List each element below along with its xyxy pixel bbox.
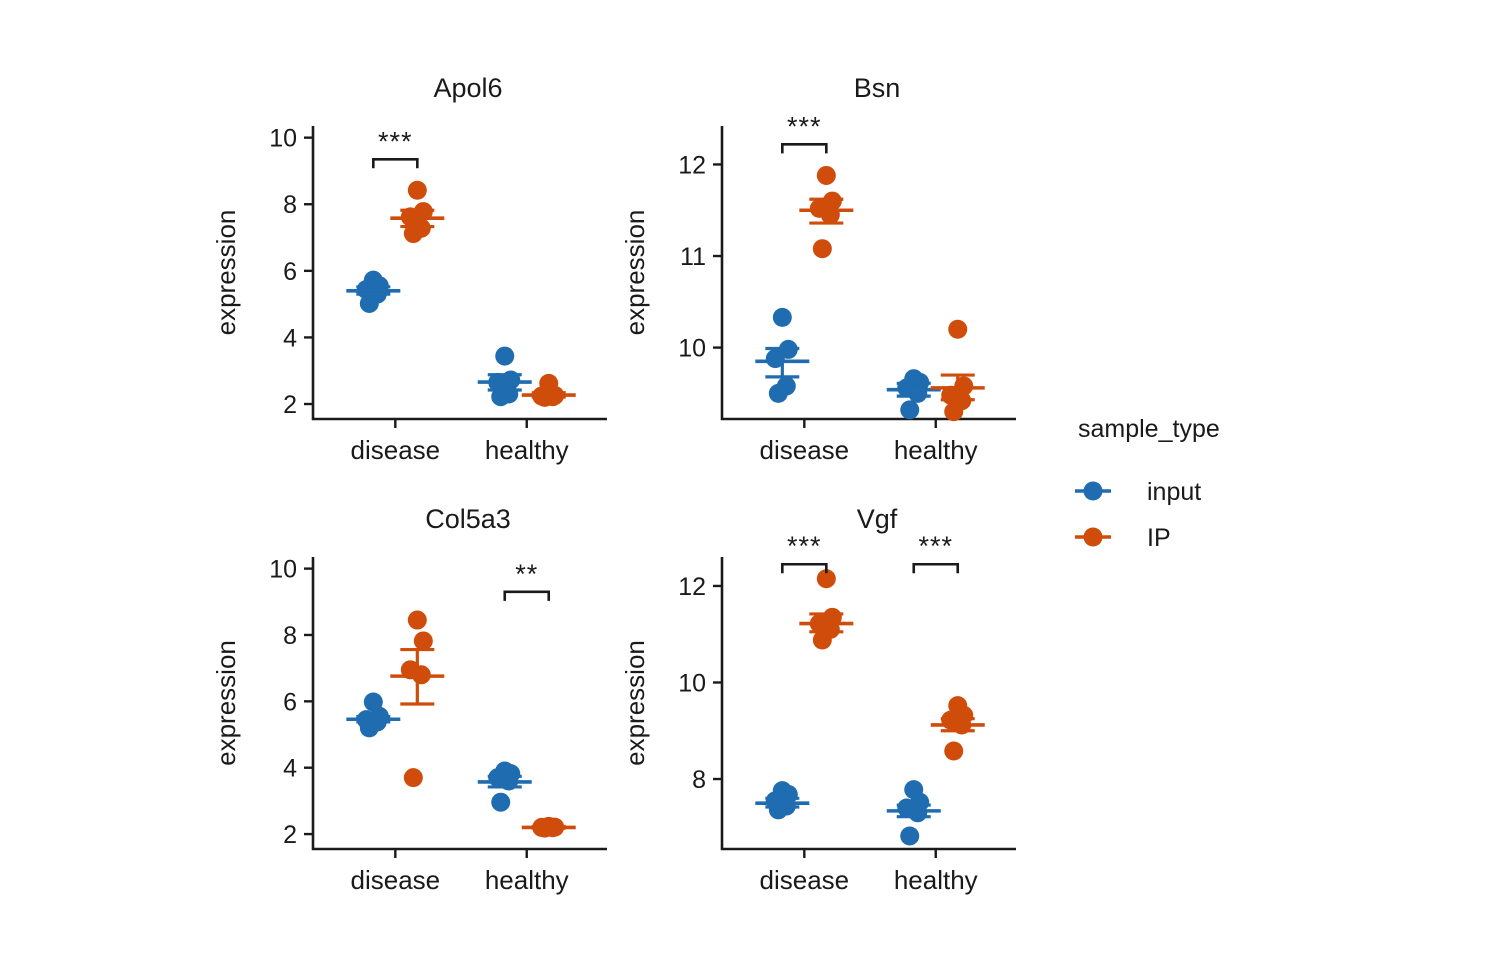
group-healthy-input <box>887 369 941 419</box>
y-axis-label-vgf: expression <box>620 640 650 766</box>
legend-title: sample_type <box>1078 415 1220 443</box>
data-point <box>491 793 510 812</box>
group-disease-IP <box>799 166 853 258</box>
y-tick-label: 12 <box>678 151 706 179</box>
panel-title-vgf: Vgf <box>857 504 898 534</box>
data-point <box>408 181 427 200</box>
significance-label: *** <box>787 531 822 561</box>
x-tick-label-disease: disease <box>760 435 850 465</box>
y-tick-label: 2 <box>283 821 297 849</box>
data-point <box>773 308 792 327</box>
panel-title-col5a3: Col5a3 <box>425 504 511 534</box>
legend-label-input: input <box>1147 478 1201 506</box>
y-tick-label: 8 <box>283 622 297 650</box>
group-healthy-IP <box>931 320 985 421</box>
data-point <box>414 631 433 650</box>
x-tick-label-disease: disease <box>351 435 441 465</box>
data-point <box>944 742 963 761</box>
data-point <box>817 166 836 185</box>
y-tick-label: 10 <box>269 556 297 584</box>
significance-label: *** <box>787 111 822 141</box>
y-axis-label-bsn: expression <box>620 210 650 336</box>
data-point <box>769 384 788 403</box>
y-tick-label: 6 <box>283 688 297 716</box>
significance-bracket <box>782 144 826 153</box>
data-point <box>908 384 927 403</box>
group-healthy-input <box>478 762 532 812</box>
y-tick-label: 8 <box>283 191 297 219</box>
legend-layer: sample_typeinputIP <box>1075 415 1220 552</box>
y-tick-label: 2 <box>283 391 297 419</box>
y-axis-label-col5a3: expression <box>211 640 241 766</box>
data-point <box>900 400 919 419</box>
axes-spine-apol6 <box>313 126 607 419</box>
legend-marker-IP <box>1084 528 1103 547</box>
group-disease-input <box>346 693 400 738</box>
group-disease-input <box>755 781 809 819</box>
panel-title-bsn: Bsn <box>854 73 901 103</box>
x-tick-label-healthy: healthy <box>894 865 978 895</box>
group-disease-input <box>755 308 809 403</box>
y-tick-label: 11 <box>680 243 706 271</box>
data-point <box>948 320 967 339</box>
legend-label-IP: IP <box>1147 524 1171 552</box>
group-disease-IP <box>390 181 444 243</box>
group-healthy-input <box>478 347 532 407</box>
panel-title-apol6: Apol6 <box>433 73 502 103</box>
y-tick-label: 12 <box>678 573 706 601</box>
y-tick-label: 6 <box>283 258 297 286</box>
group-healthy-IP <box>931 696 985 760</box>
axes-spine-vgf <box>722 557 1016 849</box>
panel-vgf: Vgfexpression81012diseasehealthy****** <box>620 504 1016 895</box>
y-tick-label: 4 <box>283 324 297 352</box>
group-healthy-IP <box>522 817 576 838</box>
data-point <box>360 294 379 313</box>
figure-root: Apol6expression246810diseasehealthy***Bs… <box>0 0 1500 960</box>
group-healthy-IP <box>522 374 576 407</box>
y-tick-label: 10 <box>678 669 706 697</box>
y-axis-label-apol6: expression <box>211 210 241 336</box>
group-healthy-input <box>887 780 941 845</box>
group-disease-input <box>346 271 400 313</box>
data-point <box>900 826 919 845</box>
significance-label: *** <box>378 126 413 156</box>
y-tick-label: 8 <box>692 766 706 794</box>
panel-apol6: Apol6expression246810diseasehealthy*** <box>211 73 607 465</box>
legend-marker-input <box>1084 482 1103 501</box>
x-tick-label-disease: disease <box>760 865 850 895</box>
data-point <box>408 611 427 630</box>
x-tick-label-healthy: healthy <box>485 865 569 895</box>
y-tick-label: 4 <box>283 755 297 783</box>
panel-col5a3: Col5a3expression246810diseasehealthy** <box>211 504 607 895</box>
x-tick-label-healthy: healthy <box>894 435 978 465</box>
data-point <box>495 347 514 366</box>
data-point <box>404 768 423 787</box>
axes-spine-col5a3 <box>313 557 607 849</box>
significance-label: *** <box>918 531 953 561</box>
data-point <box>944 402 963 421</box>
panels-layer: Apol6expression246810diseasehealthy***Bs… <box>211 73 1016 895</box>
data-point <box>813 239 832 258</box>
y-tick-label: 10 <box>269 125 297 153</box>
significance-bracket <box>505 592 549 601</box>
group-disease-IP <box>390 611 444 788</box>
significance-bracket <box>914 564 958 573</box>
legend-item-input[interactable]: input <box>1075 478 1201 506</box>
group-disease-IP <box>799 569 853 649</box>
significance-label: ** <box>515 559 538 589</box>
legend-item-IP[interactable]: IP <box>1075 524 1171 552</box>
x-tick-label-disease: disease <box>351 865 441 895</box>
significance-bracket <box>373 159 417 168</box>
y-tick-label: 10 <box>678 335 706 363</box>
panel-bsn: Bsnexpression101112diseasehealthy*** <box>620 73 1016 465</box>
expression-scatter-figure: Apol6expression246810diseasehealthy***Bs… <box>0 0 1500 960</box>
x-tick-label-healthy: healthy <box>485 435 569 465</box>
